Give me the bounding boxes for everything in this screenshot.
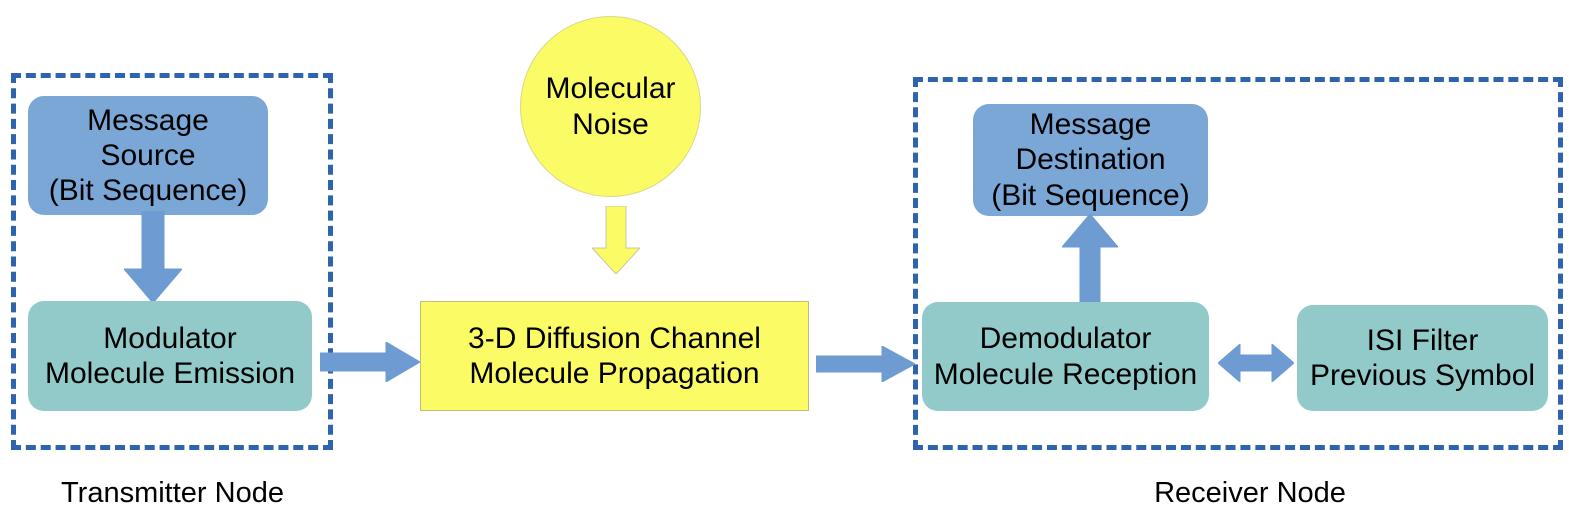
message-source-line3: (Bit Sequence) [49,173,247,208]
isi-filter-line2: Previous Symbol [1310,358,1535,393]
right-arrow-icon-modulator-to-channel [320,342,420,382]
message-source-line1: Message [87,103,209,138]
message-source-block[interactable]: Message Source (Bit Sequence) [28,96,268,215]
right-arrow-icon-channel-to-demodulator [816,346,915,382]
receiver-node-label: Receiver Node [1050,479,1450,508]
modulator-line2: Molecule Emission [45,356,295,391]
message-destination-line3: (Bit Sequence) [991,178,1189,213]
demodulator-line1: Demodulator [980,321,1152,356]
message-destination-block[interactable]: Message Destination (Bit Sequence) [973,104,1208,216]
diagram-canvas: Message Source (Bit Sequence) Modulator … [0,0,1569,527]
molecular-noise-node[interactable]: Molecular Noise [520,16,701,197]
demodulator-block[interactable]: Demodulator Molecule Reception [922,302,1209,411]
up-arrow-icon-demodulator-to-destination [1062,214,1118,304]
message-destination-line2: Destination [1015,142,1165,177]
transmitter-node-label: Transmitter Node [0,479,345,508]
down-arrow-icon-noise-to-channel [592,206,640,274]
double-arrow-icon-demodulator-isi [1218,344,1294,382]
isi-filter-block[interactable]: ISI Filter Previous Symbol [1297,305,1548,411]
modulator-block[interactable]: Modulator Molecule Emission [28,301,312,411]
channel-line2: Molecule Propagation [469,356,759,391]
molecular-noise-line1: Molecular [545,71,675,106]
down-arrow-icon-source-to-modulator [124,211,182,303]
molecular-noise-line2: Noise [572,107,649,142]
message-destination-line1: Message [1030,107,1152,142]
modulator-line1: Modulator [103,321,236,356]
diffusion-channel-block[interactable]: 3-D Diffusion Channel Molecule Propagati… [420,301,809,411]
demodulator-line2: Molecule Reception [934,357,1197,392]
channel-line1: 3-D Diffusion Channel [468,321,761,356]
isi-filter-line1: ISI Filter [1367,323,1479,358]
message-source-line2: Source [100,138,195,173]
